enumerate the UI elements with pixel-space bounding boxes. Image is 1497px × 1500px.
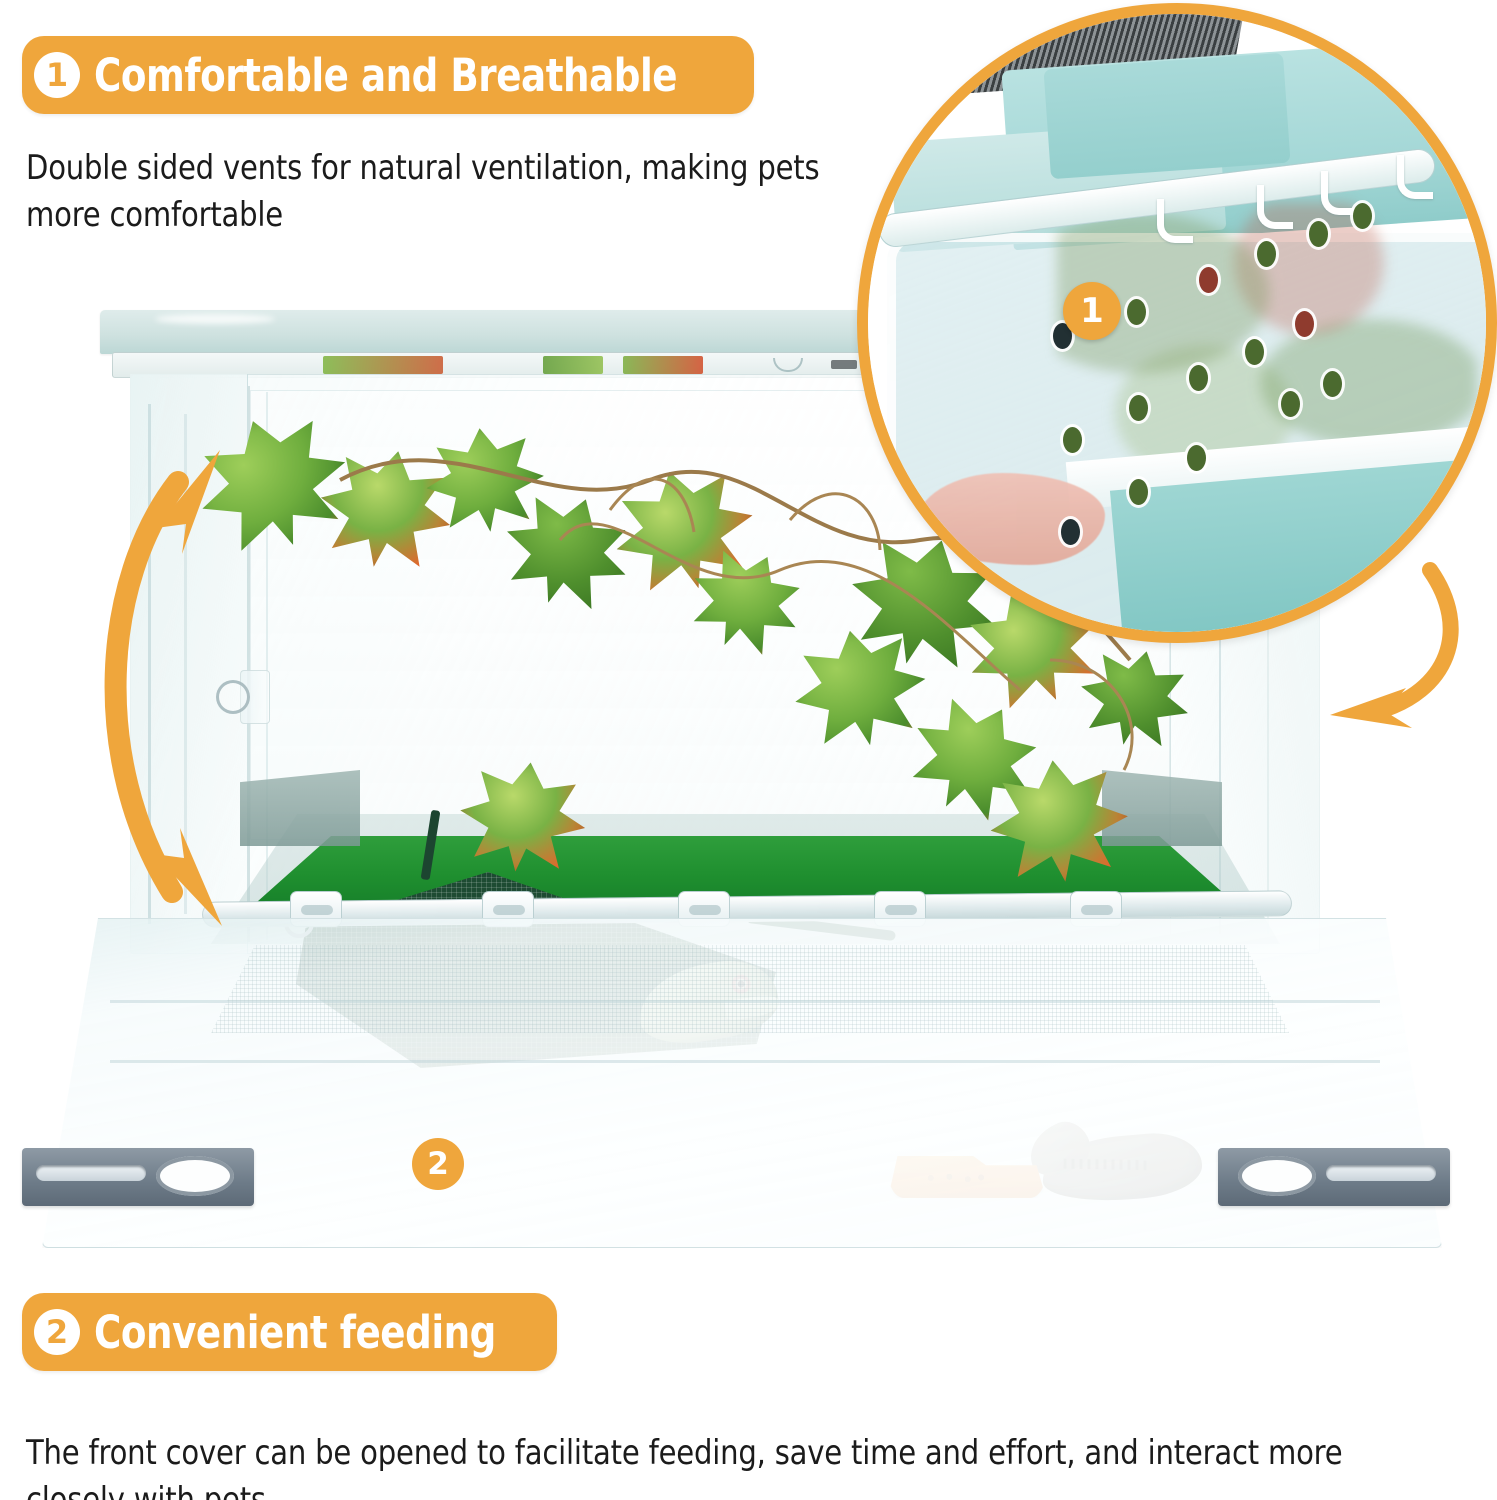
ventilation-hole	[1295, 311, 1314, 337]
feature-1-description: Double sided vents for natural ventilati…	[26, 145, 843, 239]
inset-hook-icon	[1321, 171, 1357, 215]
photo-callout-badge-2: 2	[412, 1138, 464, 1190]
ventilation-hole	[1353, 203, 1372, 229]
latch-hole	[156, 1156, 234, 1196]
ventilation-hole	[1323, 371, 1342, 397]
feature-1-heading-pill: 1 Comfortable and Breathable	[22, 36, 754, 114]
front-cover-mesh-window	[200, 945, 1300, 1033]
open-close-double-arrow-icon	[60, 430, 260, 950]
ventilation-closeup-inset	[857, 3, 1497, 643]
front-cover-seam	[110, 1060, 1380, 1063]
inset-lid-lip	[1043, 53, 1290, 179]
feature-1-number-badge: 1	[34, 52, 80, 98]
front-cover-latch-left[interactable]	[22, 1148, 254, 1206]
latch-slot	[1326, 1165, 1436, 1181]
feature-2-heading-pill: 2 Convenient feeding	[22, 1293, 557, 1371]
ventilation-hole	[1129, 395, 1148, 421]
ventilation-hole	[1063, 427, 1082, 453]
ventilation-hole	[1281, 391, 1300, 417]
ventilation-hole	[1309, 221, 1328, 247]
inset-pink-rock	[915, 473, 1105, 565]
feature-2-title: Convenient feeding	[94, 1306, 496, 1359]
feature-2-number-badge: 2	[34, 1309, 80, 1355]
feature-1-title: Comfortable and Breathable	[94, 49, 677, 102]
inset-hook-icon	[1157, 199, 1193, 243]
front-cover-latch-right[interactable]	[1218, 1148, 1450, 1206]
ventilation-hole	[1127, 299, 1146, 325]
ventilation-hole	[1199, 267, 1218, 293]
inset-callout-badge-1: 1	[1063, 282, 1121, 340]
latch-hole	[1238, 1156, 1316, 1196]
ventilation-hole	[1187, 445, 1206, 471]
ventilation-hole	[1129, 479, 1148, 505]
ventilation-hole	[1061, 519, 1080, 545]
ventilation-hole	[1189, 365, 1208, 391]
latch-slot	[36, 1165, 146, 1181]
terrarium-lid-top	[100, 310, 910, 354]
front-cover-seam	[110, 1000, 1380, 1003]
feature-2-description: The front cover can be opened to facilit…	[26, 1430, 1356, 1500]
infographic-page: 1 2 1 Comfortable and Breathable Double …	[0, 0, 1497, 1500]
ventilation-hole	[1245, 339, 1264, 365]
inset-hook-icon	[1397, 155, 1433, 199]
ventilation-hole	[1257, 241, 1276, 267]
inset-hook-icon	[1257, 185, 1293, 229]
inset-photo	[857, 3, 1497, 643]
